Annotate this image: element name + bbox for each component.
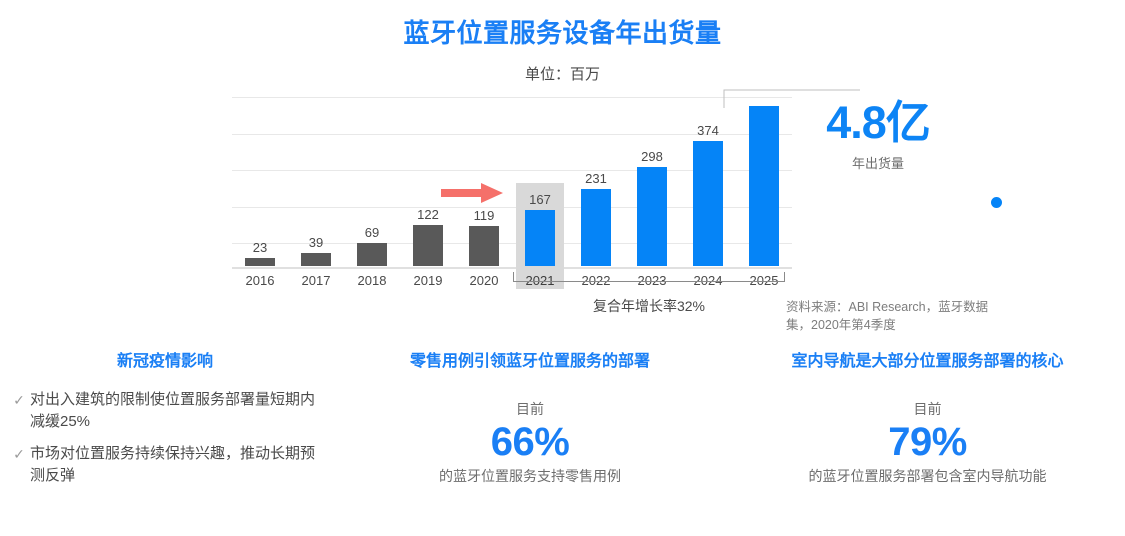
list-item: ✓市场对位置服务持续保持兴趣，推动长期预测反弹 (8, 443, 322, 487)
retail-stat-prefix: 目前 (340, 399, 720, 419)
retail-heading: 零售用例引领蓝牙位置服务的部署 (340, 352, 720, 373)
bar-value-2019: 122 (400, 207, 456, 222)
x-axis-label-2016: 2016 (232, 273, 288, 288)
retail-stat-caption: 的蓝牙位置服务支持零售用例 (340, 467, 720, 487)
bar-2024[interactable] (693, 141, 723, 266)
bar-slot-2023[interactable] (624, 95, 680, 266)
bar-slot-2024[interactable] (680, 95, 736, 266)
bar-value-2023: 298 (624, 149, 680, 164)
insight-column-retail: 零售用例引领蓝牙位置服务的部署 目前 66% 的蓝牙位置服务支持零售用例 (340, 352, 720, 486)
bar-value-2022: 231 (568, 171, 624, 186)
insight-column-covid: 新冠疫情影响 ✓对出入建筑的限制使位置服务部署量短期内减缓25%✓市场对位置服务… (0, 352, 330, 498)
bar-2023[interactable] (637, 167, 667, 266)
bar-value-2021: 167 (512, 192, 568, 207)
chart-units-subtitle: 单位：百万 (0, 63, 1125, 84)
bar-value-2017: 39 (288, 235, 344, 250)
bar-2020[interactable] (469, 226, 499, 266)
bar-2021[interactable] (525, 210, 555, 266)
bar-value-2020: 119 (456, 208, 512, 223)
bar-2016[interactable] (245, 258, 275, 266)
indoor-stat-caption: 的蓝牙位置服务部署包含室内导航功能 (730, 467, 1125, 487)
bar-2022[interactable] (581, 189, 611, 266)
insight-column-indoor: 室内导航是大部分位置服务部署的核心 目前 79% 的蓝牙位置服务部署包含室内导航… (730, 352, 1125, 486)
retail-stat-value: 66% (340, 421, 720, 463)
check-icon: ✓ (8, 443, 30, 464)
list-item: ✓对出入建筑的限制使位置服务部署量短期内减缓25% (8, 389, 322, 433)
x-axis-label-2020: 2020 (456, 273, 512, 288)
bar-2025[interactable] (749, 106, 779, 266)
bar-value-2016: 23 (232, 240, 288, 255)
bar-2018[interactable] (357, 243, 387, 266)
cagr-label: 复合年增长率32% (513, 296, 785, 316)
page-title: 蓝牙位置服务设备年出货量 (0, 18, 1125, 49)
bar-2019[interactable] (413, 225, 443, 266)
x-axis-label-2017: 2017 (288, 273, 344, 288)
x-axis-label-2018: 2018 (344, 273, 400, 288)
chart-x-axis (232, 267, 792, 269)
cagr-bracket (513, 272, 785, 282)
last-bar-marker-icon (989, 195, 1004, 210)
source-note: 资料来源：ABI Research，蓝牙数据集，2020年第4季度 (786, 298, 1001, 334)
headline-stat-label: 年出货量 (778, 153, 978, 172)
covid-bullet-list: ✓对出入建筑的限制使位置服务部署量短期内减缓25%✓市场对位置服务持续保持兴趣，… (0, 389, 330, 487)
bullet-text: 市场对位置服务持续保持兴趣，推动长期预测反弹 (30, 443, 322, 487)
callout-leader-line (722, 88, 862, 116)
bar-2017[interactable] (301, 253, 331, 266)
covid-heading: 新冠疫情影响 (0, 352, 330, 373)
indoor-stat-prefix: 目前 (730, 399, 1125, 419)
bar-slot-2018[interactable] (344, 95, 400, 266)
bar-slot-2020[interactable] (456, 95, 512, 266)
bar-slot-2021[interactable] (512, 95, 568, 266)
x-axis-label-2019: 2019 (400, 273, 456, 288)
trend-arrow-icon (441, 182, 503, 204)
insight-columns: 新冠疫情影响 ✓对出入建筑的限制使位置服务部署量短期内减缓25%✓市场对位置服务… (0, 352, 1125, 536)
bar-chart: 2320163920176920181222019119202016720212… (232, 95, 792, 270)
bar-slot-2019[interactable] (400, 95, 456, 266)
bar-value-2024: 374 (680, 123, 736, 138)
indoor-heading: 室内导航是大部分位置服务部署的核心 (730, 352, 1125, 373)
title-block: 蓝牙位置服务设备年出货量 单位：百万 (0, 18, 1125, 84)
indoor-stat-value: 79% (730, 421, 1125, 463)
bar-value-2018: 69 (344, 225, 400, 240)
check-icon: ✓ (8, 389, 30, 410)
bullet-text: 对出入建筑的限制使位置服务部署量短期内减缓25% (30, 389, 322, 433)
